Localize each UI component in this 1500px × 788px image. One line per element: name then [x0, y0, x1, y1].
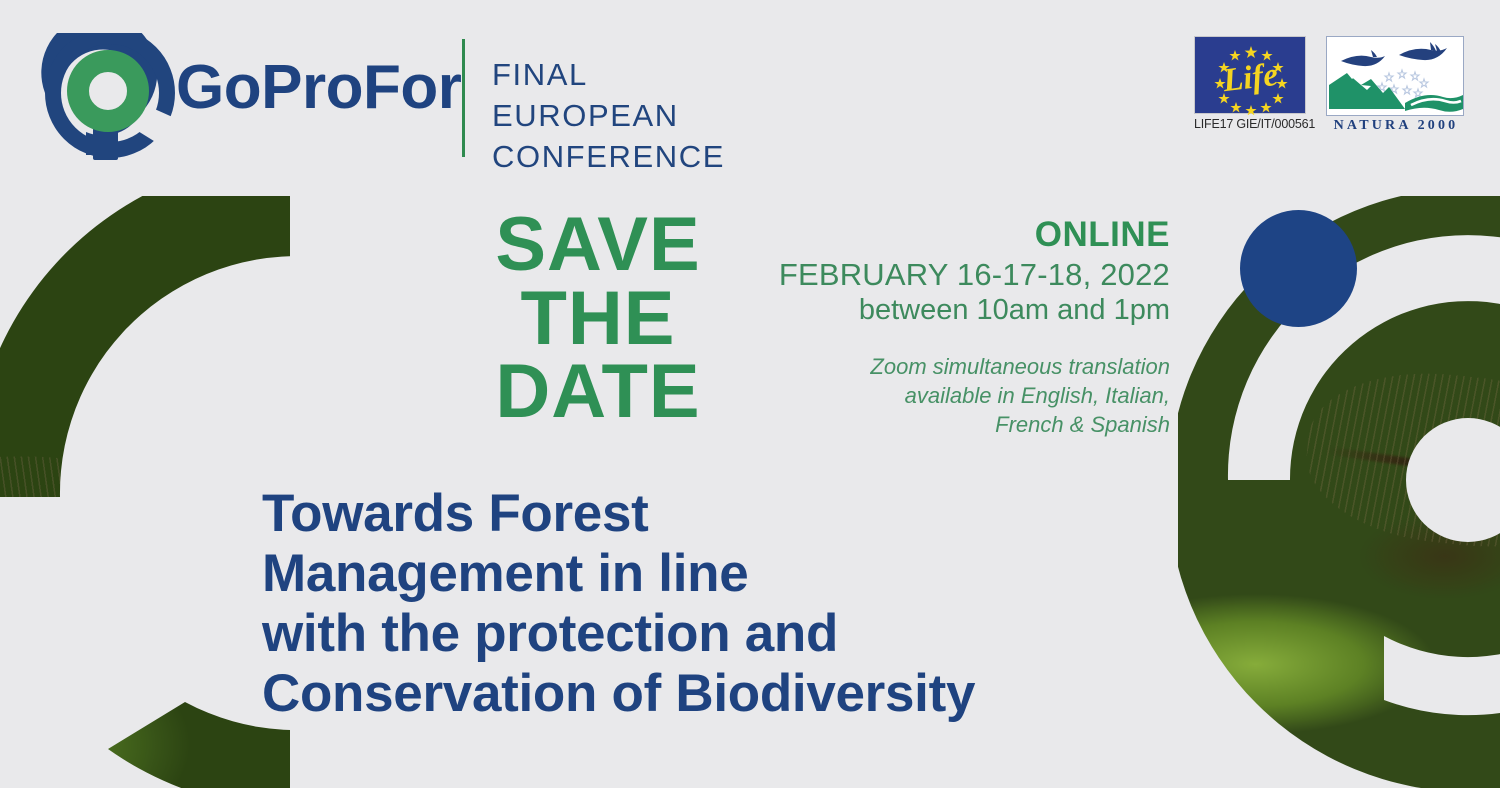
conference-line-3: CONFERENCE [492, 136, 725, 177]
svg-text:Life: Life [1220, 57, 1280, 100]
translation-note: Zoom simultaneous translation available … [750, 352, 1170, 440]
life-grant-code: LIFE17 GIE/IT/000561 [1194, 117, 1309, 131]
brand-wordmark: GoProFor [176, 57, 461, 119]
title-line-2: Management in line [262, 544, 975, 604]
event-time: between 10am and 1pm [750, 293, 1170, 328]
navy-accent-circle [1240, 210, 1357, 327]
conference-line-1: FINAL [492, 54, 725, 95]
save-line-2: THE [438, 282, 758, 356]
save-line-3: DATE [438, 355, 758, 429]
event-mode: ONLINE [750, 216, 1170, 255]
conference-subtitle: FINAL EUROPEAN CONFERENCE [492, 54, 725, 178]
conference-title: Towards Forest Management in line with t… [262, 484, 975, 724]
life-programme-logo: Life LIFE17 GIE/IT/000561 [1194, 36, 1309, 131]
eu-life-flag-icon: Life [1194, 36, 1306, 114]
goprofor-q-logo-icon [38, 33, 184, 163]
translation-note-line-3: French & Spanish [750, 410, 1170, 439]
natura-2000-label: NATURA 2000 [1326, 118, 1466, 134]
save-line-1: SAVE [438, 208, 758, 282]
natura-2000-emblem-icon [1326, 36, 1464, 116]
natura-2000-logo: NATURA 2000 [1326, 36, 1466, 134]
header-divider [462, 39, 465, 157]
translation-note-line-1: Zoom simultaneous translation [750, 352, 1170, 381]
conference-line-2: EUROPEAN [492, 95, 725, 136]
event-date: FEBRUARY 16-17-18, 2022 [750, 257, 1170, 294]
event-details: ONLINE FEBRUARY 16-17-18, 2022 between 1… [750, 216, 1170, 440]
translation-note-line-2: available in English, Italian, [750, 381, 1170, 410]
title-line-3: with the protection and [262, 604, 975, 664]
save-the-date-heading: SAVE THE DATE [438, 208, 758, 429]
title-line-1: Towards Forest [262, 484, 975, 544]
save-the-date-poster: GoProFor FINAL EUROPEAN CONFERENCE [0, 0, 1500, 788]
poster-header: GoProFor FINAL EUROPEAN CONFERENCE [0, 0, 1500, 196]
title-line-4: Conservation of Biodiversity [262, 664, 975, 724]
